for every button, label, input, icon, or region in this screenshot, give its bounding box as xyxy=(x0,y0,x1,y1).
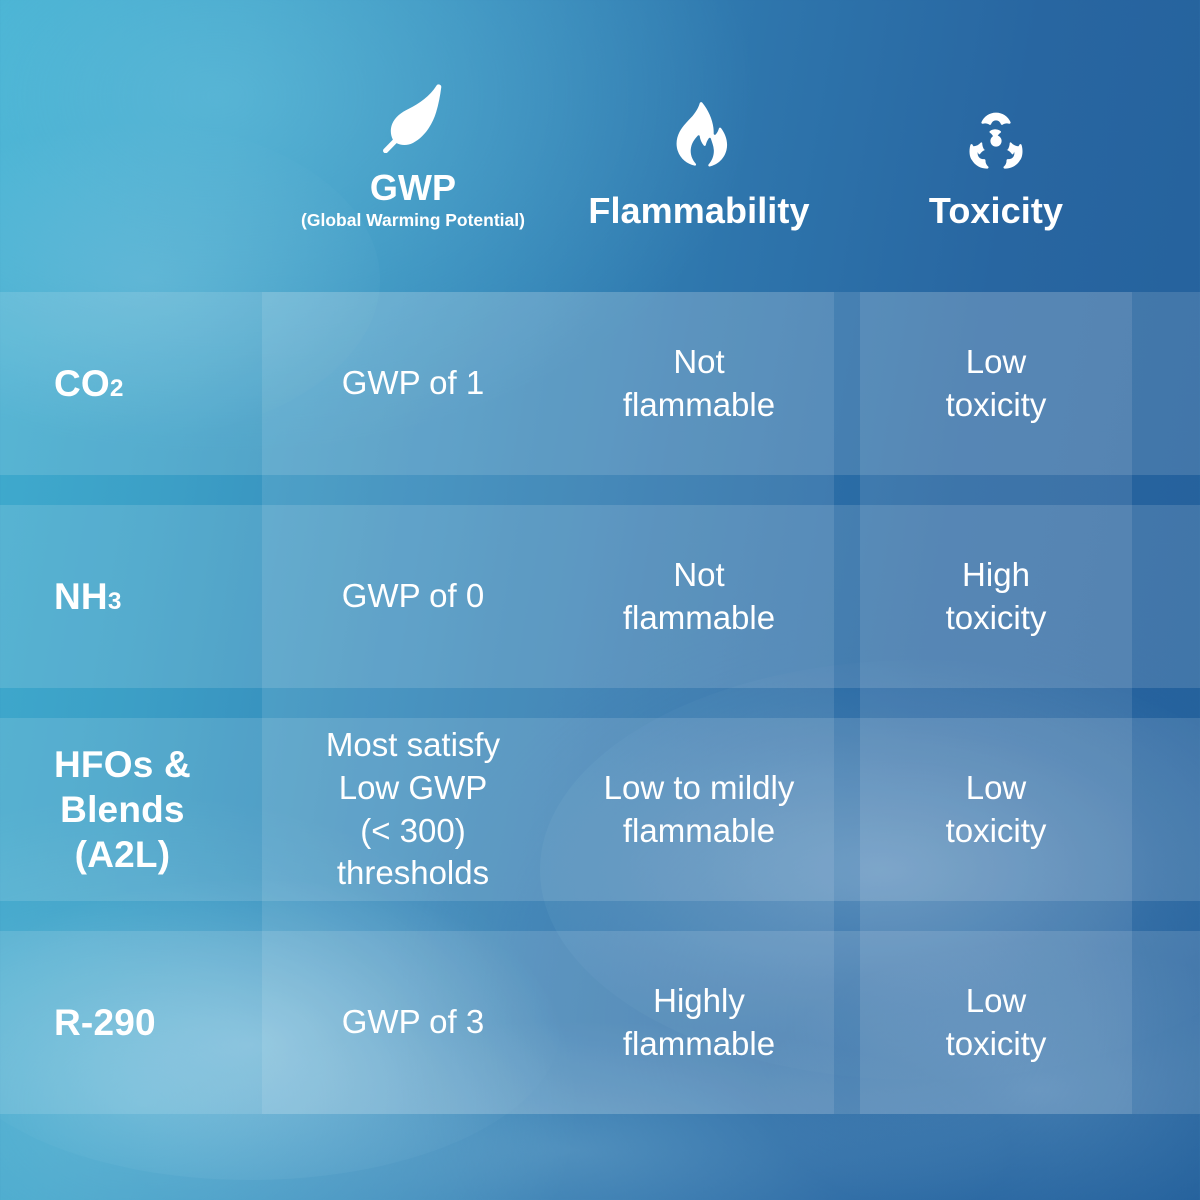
table-header: GWP (Global Warming Potential) Flammabil… xyxy=(0,0,1200,292)
cell-hfos-flammability: Low to mildlyflammable xyxy=(564,718,834,901)
row-label-co2: CO2 xyxy=(0,292,262,475)
row-label-hfos: HFOs &Blends(A2L) xyxy=(0,718,262,901)
cell-nh3-gwp: GWP of 0 xyxy=(262,505,564,688)
header-title-toxicity: Toxicity xyxy=(929,192,1063,230)
header-title-gwp: GWP xyxy=(370,169,456,207)
row-label-nh3: NH3 xyxy=(0,505,262,688)
biohazard-icon xyxy=(961,100,1031,176)
cell-co2-flammability: Notflammable xyxy=(564,292,834,475)
leaf-icon xyxy=(376,77,450,153)
cell-hfos-gwp: Most satisfyLow GWP(< 300)thresholds xyxy=(262,718,564,901)
cell-nh3-toxicity: Hightoxicity xyxy=(860,505,1132,688)
header-column-gwp: GWP (Global Warming Potential) xyxy=(262,0,564,292)
cell-hfos-toxicity: Lowtoxicity xyxy=(860,718,1132,901)
header-subtitle-gwp: (Global Warming Potential) xyxy=(301,210,525,230)
cell-co2-toxicity: Lowtoxicity xyxy=(860,292,1132,475)
cell-co2-gwp: GWP of 1 xyxy=(262,292,564,475)
flame-icon xyxy=(670,100,728,176)
cell-r290-toxicity: Lowtoxicity xyxy=(860,931,1132,1114)
comparison-table: GWP (Global Warming Potential) Flammabil… xyxy=(0,0,1200,1200)
cell-r290-gwp: GWP of 3 xyxy=(262,931,564,1114)
header-column-flammability: Flammability xyxy=(564,0,834,292)
cell-r290-flammability: Highlyflammable xyxy=(564,931,834,1114)
cell-nh3-flammability: Notflammable xyxy=(564,505,834,688)
header-column-toxicity: Toxicity xyxy=(860,0,1132,292)
row-label-r290: R-290 xyxy=(0,931,262,1114)
header-title-flammability: Flammability xyxy=(588,192,809,230)
